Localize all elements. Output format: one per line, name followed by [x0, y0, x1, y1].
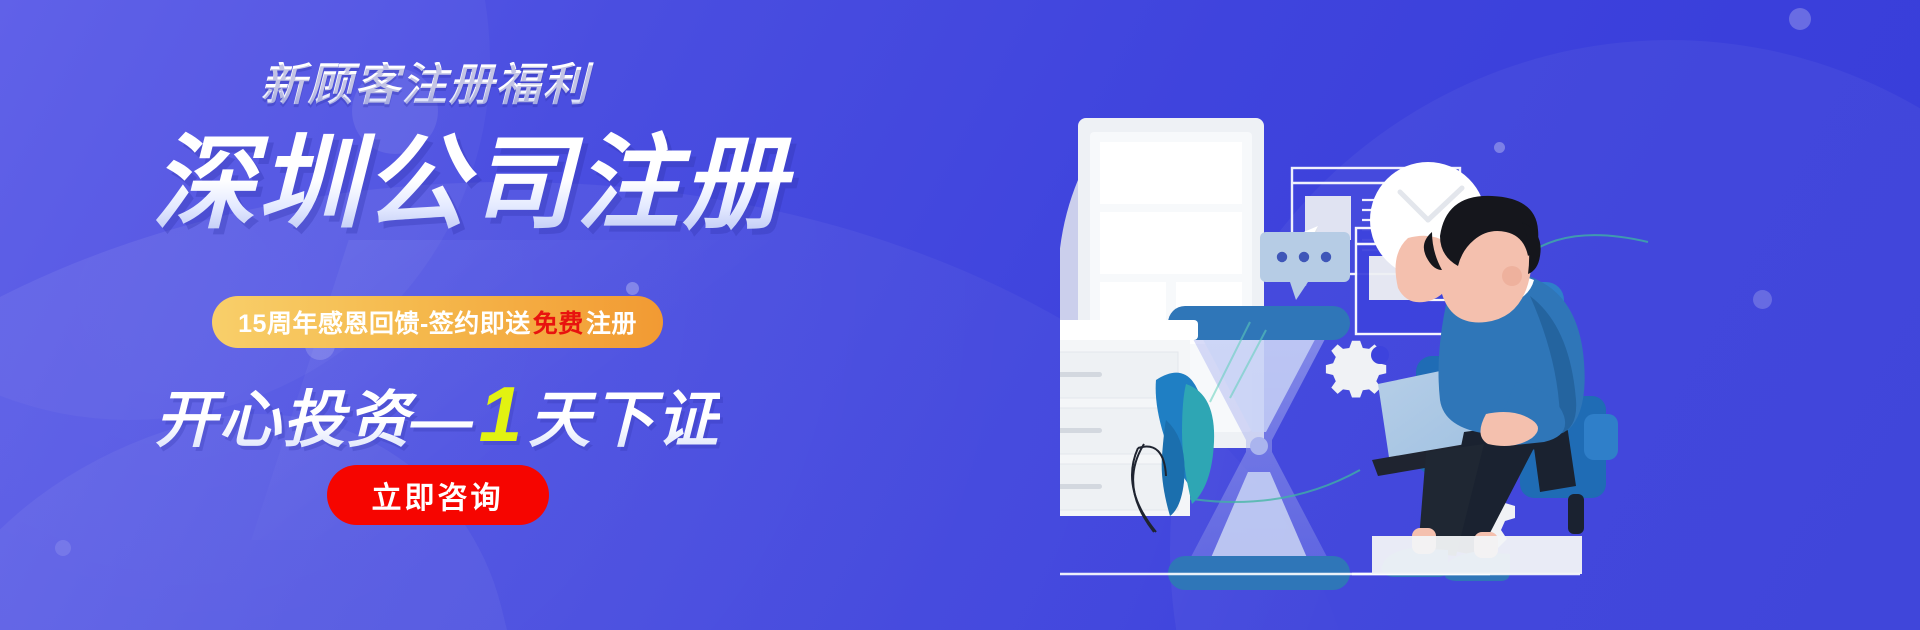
banner-copy: 新顾客注册福利 深圳公司注册 15周年感恩回馈-签约即送免费注册 开心投资—1天…: [0, 0, 1060, 630]
page-title: 深圳公司注册: [0, 130, 1060, 238]
badge-suffix-label: 注册: [586, 304, 637, 340]
promo-badge-wrapper: 15周年感恩回馈-签约即送免费注册: [0, 296, 1060, 348]
tagline-trail-label: 天下证: [528, 386, 720, 455]
promo-banner: 新顾客注册福利 深圳公司注册 15周年感恩回馈-签约即送免费注册 开心投资—1天…: [0, 0, 1920, 630]
eyebrow-text: 新顾客注册福利: [0, 62, 1060, 107]
hero-illustration: [1060, 0, 1920, 630]
consult-now-button[interactable]: 立即咨询: [327, 465, 549, 525]
chat-bubble-icon: [1260, 232, 1350, 300]
tagline-number: 1: [475, 370, 528, 458]
tagline: 开心投资—1天下证: [0, 372, 1060, 458]
tagline-lead-label: 开心投资—: [155, 386, 475, 455]
badge-highlight-label: 免费: [531, 304, 586, 340]
cta-wrapper: 立即咨询: [0, 465, 1060, 525]
badge-prefix-label: 15周年感恩回馈-签约即送: [238, 304, 531, 340]
status-badge: 15周年感恩回馈-签约即送免费注册: [212, 296, 663, 348]
